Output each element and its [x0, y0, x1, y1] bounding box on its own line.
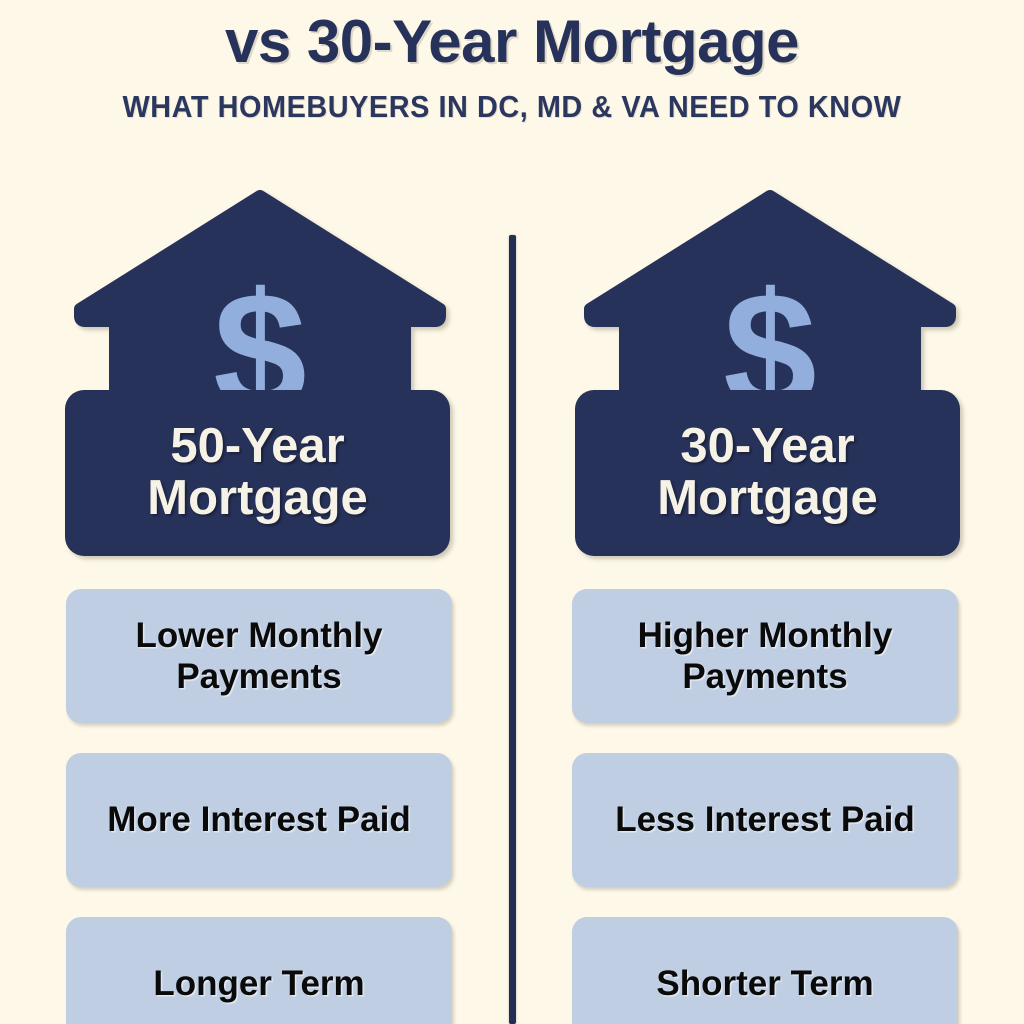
- mortgage-type-label: 50-Year Mortgage: [65, 390, 450, 556]
- header: vs 30-Year Mortgage WHAT HOMEBUYERS IN D…: [0, 0, 1024, 125]
- house-with-dollar-sign-icon: $ 30-Year Mortgage: [530, 190, 1000, 560]
- house-with-dollar-sign-icon: $ 50-Year Mortgage: [20, 190, 490, 560]
- page-title: vs 30-Year Mortgage: [0, 0, 1024, 74]
- feature-pill[interactable]: Longer Term: [66, 917, 452, 1024]
- mortgage-comparison-infographic: vs 30-Year Mortgage WHAT HOMEBUYERS IN D…: [0, 0, 1024, 1024]
- feature-pill[interactable]: Shorter Term: [572, 917, 958, 1024]
- mortgage-type-label: 30-Year Mortgage: [575, 390, 960, 556]
- feature-pill[interactable]: More Interest Paid: [66, 753, 452, 887]
- page-subtitle: WHAT HOMEBUYERS IN DC, MD & VA NEED TO K…: [112, 88, 912, 126]
- feature-list-left: Lower Monthly Payments More Interest Pai…: [20, 589, 490, 1024]
- feature-pill[interactable]: Higher Monthly Payments: [572, 589, 958, 723]
- feature-list-right: Higher Monthly Payments Less Interest Pa…: [530, 589, 1000, 1024]
- feature-pill[interactable]: Less Interest Paid: [572, 753, 958, 887]
- comparison-column-left: $ 50-Year Mortgage Lower Monthly Payment…: [20, 190, 490, 560]
- column-divider: [509, 235, 516, 1024]
- feature-pill[interactable]: Lower Monthly Payments: [66, 589, 452, 723]
- comparison-column-right: $ 30-Year Mortgage Higher Monthly Paymen…: [530, 190, 1000, 560]
